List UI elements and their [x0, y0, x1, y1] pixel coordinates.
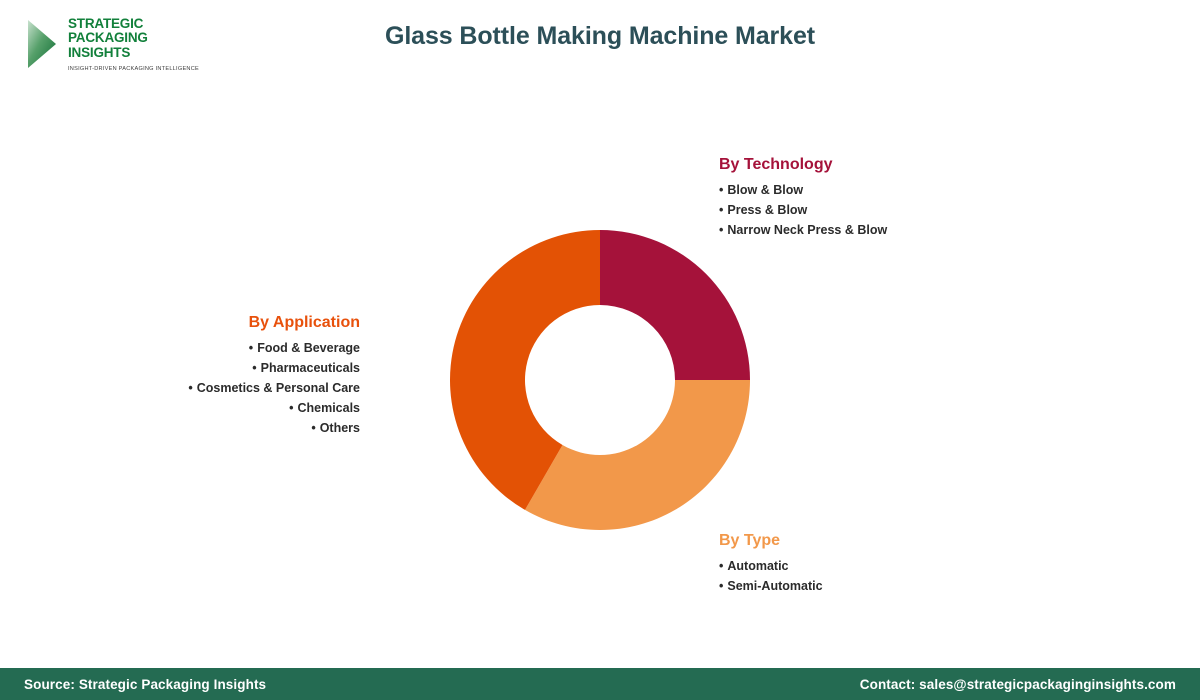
list-item: •Pharmaceuticals [100, 358, 360, 378]
list-item: •Food & Beverage [100, 338, 360, 358]
bullet-icon: • [289, 401, 293, 415]
bullet-icon: • [719, 203, 723, 217]
list-item: •Automatic [719, 556, 823, 576]
segment-list-application: •Food & Beverage •Pharmaceuticals •Cosme… [100, 338, 360, 438]
list-item: •Chemicals [100, 398, 360, 418]
bullet-icon: • [719, 559, 723, 573]
bullet-icon: • [311, 421, 315, 435]
segment-item-label: Automatic [727, 559, 788, 573]
bullet-icon: • [188, 381, 192, 395]
segment-group-type: By Type •Automatic •Semi-Automatic [719, 531, 823, 596]
bullet-icon: • [719, 579, 723, 593]
segment-list-type: •Automatic •Semi-Automatic [719, 556, 823, 596]
logo-tagline: INSIGHT-DRIVEN PACKAGING INTELLIGENCE [68, 65, 200, 73]
segment-item-label: Pharmaceuticals [261, 361, 360, 375]
segment-item-label: Blow & Blow [727, 183, 803, 197]
segment-item-label: Chemicals [297, 401, 360, 415]
donut-chart [450, 230, 750, 530]
footer-contact: Contact: sales@strategicpackaginginsight… [860, 677, 1176, 692]
bullet-icon: • [252, 361, 256, 375]
segment-item-label: Cosmetics & Personal Care [197, 381, 360, 395]
list-item: •Semi-Automatic [719, 576, 823, 596]
donut-slice-by-technology [600, 230, 750, 380]
donut-slice-by-type [525, 380, 750, 530]
page-title: Glass Bottle Making Machine Market [0, 22, 1200, 51]
segment-title-application: By Application [100, 313, 360, 333]
bullet-icon: • [719, 183, 723, 197]
segment-group-technology: By Technology •Blow & Blow •Press & Blow… [719, 155, 887, 240]
segment-title-type: By Type [719, 531, 823, 551]
segment-item-label: Others [320, 421, 360, 435]
segment-list-technology: •Blow & Blow •Press & Blow •Narrow Neck … [719, 180, 887, 240]
segment-item-label: Food & Beverage [257, 341, 360, 355]
segment-item-label: Semi-Automatic [727, 579, 822, 593]
footer-source: Source: Strategic Packaging Insights [24, 677, 266, 692]
list-item: •Press & Blow [719, 200, 887, 220]
list-item: •Others [100, 418, 360, 438]
list-item: •Cosmetics & Personal Care [100, 378, 360, 398]
segment-item-label: Press & Blow [727, 203, 807, 217]
bullet-icon: • [719, 223, 723, 237]
list-item: •Blow & Blow [719, 180, 887, 200]
segment-title-technology: By Technology [719, 155, 887, 175]
footer-bar: Source: Strategic Packaging Insights Con… [0, 668, 1200, 700]
bullet-icon: • [249, 341, 253, 355]
list-item: •Narrow Neck Press & Blow [719, 220, 887, 240]
segment-item-label: Narrow Neck Press & Blow [727, 223, 887, 237]
segment-group-application: By Application •Food & Beverage •Pharmac… [100, 313, 360, 438]
